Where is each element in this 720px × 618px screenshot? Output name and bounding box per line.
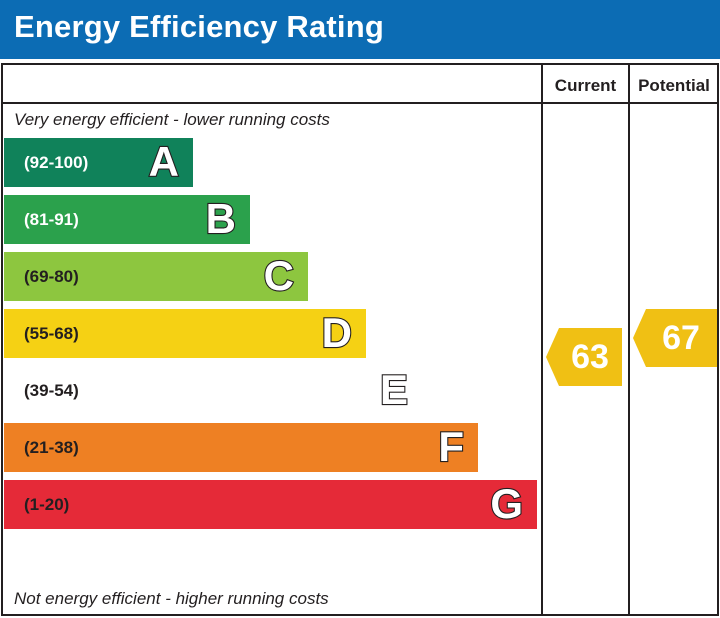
rating-band-g: (1-20)G [4, 480, 537, 529]
rating-band-e: (39-54)E [4, 366, 422, 415]
band-letter-a: A [149, 141, 179, 183]
band-letter-b: B [206, 198, 236, 240]
caption-top: Very energy efficient - lower running co… [14, 110, 330, 130]
band-range-e: (39-54) [24, 381, 79, 401]
rating-band-f: (21-38)F [4, 423, 478, 472]
header-row-divider [1, 102, 717, 104]
band-range-c: (69-80) [24, 267, 79, 287]
potential-rating-value: 67 [650, 321, 700, 355]
band-letter-f: F [438, 426, 464, 468]
rating-band-b: (81-91)B [4, 195, 250, 244]
energy-efficiency-rating-chart: Energy Efficiency Rating Current Potenti… [0, 0, 720, 618]
chart-title-bar: Energy Efficiency Rating [0, 0, 720, 59]
rating-band-c: (69-80)C [4, 252, 308, 301]
column-header-potential: Potential [630, 74, 718, 98]
band-range-d: (55-68) [24, 324, 79, 344]
caption-bottom: Not energy efficient - higher running co… [14, 589, 329, 609]
column-header-current: Current [543, 74, 628, 98]
band-letter-e: E [380, 369, 408, 411]
band-letter-c: C [264, 255, 294, 297]
potential-rating-marker: 67 [633, 309, 717, 367]
rating-band-d: (55-68)D [4, 309, 366, 358]
band-letter-g: G [490, 483, 523, 525]
current-rating-marker: 63 [546, 328, 622, 386]
rating-band-a: (92-100)A [4, 138, 193, 187]
column-divider-potential [628, 65, 630, 616]
band-range-f: (21-38) [24, 438, 79, 458]
band-range-b: (81-91) [24, 210, 79, 230]
current-rating-value: 63 [559, 340, 609, 374]
band-range-a: (92-100) [24, 153, 88, 173]
rating-bands: (92-100)A(81-91)B(69-80)C(55-68)D(39-54)… [4, 138, 544, 586]
band-range-g: (1-20) [24, 495, 69, 515]
page-title: Energy Efficiency Rating [14, 9, 384, 45]
band-letter-d: D [322, 312, 352, 354]
